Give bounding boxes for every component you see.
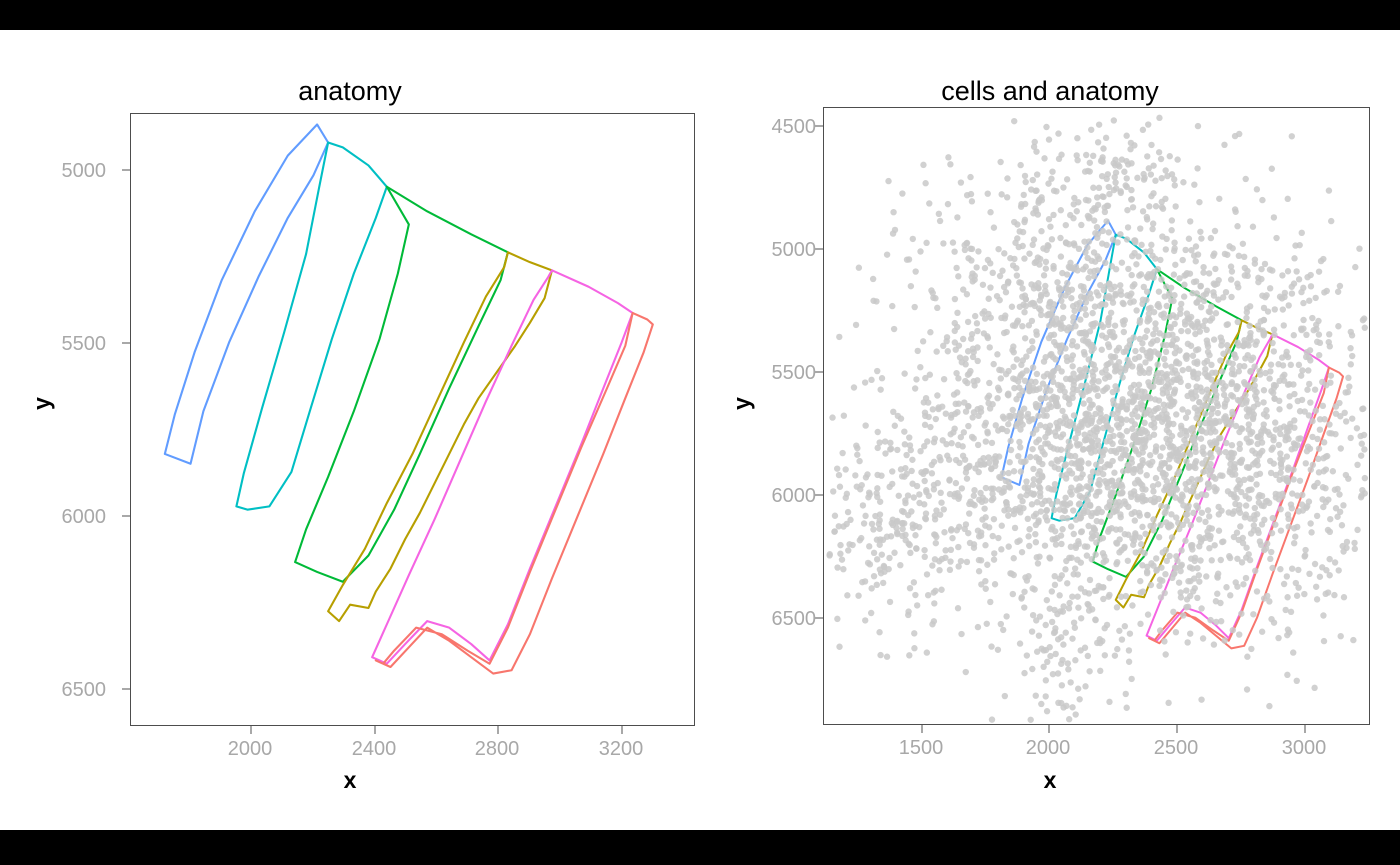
cell-point	[1068, 325, 1074, 331]
cell-point	[936, 211, 942, 217]
cell-point	[1027, 717, 1033, 723]
cell-point	[1109, 441, 1115, 447]
cell-point	[1197, 557, 1203, 563]
cell-point	[1021, 589, 1027, 595]
cell-point	[1285, 268, 1291, 274]
cell-point	[1261, 332, 1267, 338]
cell-point	[1207, 533, 1213, 539]
cell-point	[1340, 548, 1346, 554]
cell-point	[1263, 498, 1269, 504]
cell-point	[1183, 587, 1189, 593]
cell-point	[940, 343, 946, 349]
cell-point	[983, 586, 989, 592]
letterbox-bottom	[0, 830, 1400, 865]
cell-point	[1112, 322, 1118, 328]
cell-point	[1216, 511, 1222, 517]
cell-point	[1001, 415, 1007, 421]
cell-point	[1082, 373, 1088, 379]
cell-point	[1264, 593, 1270, 599]
cell-point	[1049, 588, 1055, 594]
cell-point	[1152, 495, 1158, 501]
cell-point	[1187, 564, 1193, 570]
cell-point	[963, 408, 969, 414]
cell-point	[1205, 390, 1211, 396]
cell-point	[884, 251, 890, 257]
cell-point	[1084, 244, 1090, 250]
cell-point	[1060, 431, 1066, 437]
cell-point	[1070, 338, 1076, 344]
cell-point	[1273, 235, 1279, 241]
cell-point	[1260, 399, 1266, 405]
cell-point	[1071, 619, 1077, 625]
cell-point	[1350, 637, 1356, 643]
cell-point	[1108, 310, 1114, 316]
cell-point	[1295, 436, 1301, 442]
cell-point	[874, 368, 880, 374]
cell-point	[1289, 290, 1295, 296]
cell-point	[937, 457, 943, 463]
cell-point	[871, 550, 877, 556]
cell-point	[1284, 573, 1290, 579]
cell-point	[1343, 418, 1349, 424]
cell-point	[1164, 342, 1170, 348]
cell-point	[1128, 140, 1134, 146]
cell-point	[1176, 579, 1182, 585]
cell-point	[1172, 203, 1178, 209]
cell-point	[1302, 552, 1308, 558]
cell-point	[955, 563, 961, 569]
cell-point	[1080, 266, 1086, 272]
cell-point	[1163, 373, 1169, 379]
cell-point	[1170, 298, 1176, 304]
cell-point	[1311, 327, 1317, 333]
cell-point	[1337, 283, 1343, 289]
cell-point	[1119, 259, 1125, 265]
cell-point	[1230, 361, 1236, 367]
cell-point	[1157, 453, 1163, 459]
cell-point	[1167, 153, 1173, 159]
cell-point	[952, 328, 958, 334]
cell-point	[1003, 478, 1009, 484]
cell-point	[1066, 555, 1072, 561]
cell-point	[1117, 231, 1123, 237]
cell-point	[1228, 276, 1234, 282]
cell-point	[999, 268, 1005, 274]
cell-point	[1034, 171, 1040, 177]
cell-point	[836, 472, 842, 478]
cell-point	[1206, 545, 1212, 551]
cell-point	[950, 239, 956, 245]
cell-point	[1252, 342, 1258, 348]
cell-point	[964, 559, 970, 565]
cell-point	[1148, 582, 1154, 588]
cell-point	[1097, 536, 1103, 542]
cell-point	[1240, 342, 1246, 348]
cell-point	[1217, 600, 1223, 606]
cell-point	[971, 435, 977, 441]
cell-point	[1165, 523, 1171, 529]
cell-point	[1316, 331, 1322, 337]
cell-point	[1027, 454, 1033, 460]
cell-point	[954, 409, 960, 415]
cell-point	[1129, 459, 1135, 465]
cell-point	[940, 240, 946, 246]
cell-point	[1214, 446, 1220, 452]
cell-point	[1033, 148, 1039, 154]
cell-point	[892, 423, 898, 429]
cell-point	[916, 491, 922, 497]
cell-point	[1291, 255, 1297, 261]
cell-point	[945, 201, 951, 207]
cell-point	[932, 516, 938, 522]
cell-point	[829, 414, 835, 420]
cell-point	[1347, 345, 1353, 351]
cell-point	[1040, 407, 1046, 413]
cell-point	[1095, 442, 1101, 448]
cell-point	[1117, 288, 1123, 294]
cell-point	[953, 265, 959, 271]
cell-point	[1078, 559, 1084, 565]
cell-point	[1313, 322, 1319, 328]
cell-point	[1251, 404, 1257, 410]
cell-point	[913, 545, 919, 551]
cell-point	[1200, 264, 1206, 270]
cell-point	[1146, 311, 1152, 317]
cell-point	[1112, 652, 1118, 658]
cell-point	[1029, 300, 1035, 306]
cell-point	[1004, 194, 1010, 200]
cell-point	[1198, 427, 1204, 433]
cell-point	[1151, 424, 1157, 430]
cell-point	[1202, 519, 1208, 525]
cell-point	[1078, 465, 1084, 471]
cell-point	[1211, 641, 1217, 647]
cell-point	[1096, 477, 1102, 483]
cell-point	[1174, 156, 1180, 162]
cell-point	[1187, 218, 1193, 224]
cell-point	[1354, 527, 1360, 533]
cell-point	[1158, 276, 1164, 282]
cell-point	[1253, 396, 1259, 402]
cell-point	[1326, 430, 1332, 436]
cell-point	[1192, 449, 1198, 455]
cell-point	[877, 386, 883, 392]
cell-point	[1286, 393, 1292, 399]
cell-point	[1095, 139, 1101, 145]
cell-point	[1231, 351, 1237, 357]
cell-point	[1161, 401, 1167, 407]
cell-point	[1162, 167, 1168, 173]
cell-point	[1132, 239, 1138, 245]
cell-point	[985, 257, 991, 263]
cell-point	[853, 322, 859, 328]
cell-point	[1212, 370, 1218, 376]
cell-point	[1064, 580, 1070, 586]
cell-point	[1246, 323, 1252, 329]
cell-point	[965, 423, 971, 429]
cell-point	[1128, 272, 1134, 278]
cell-point	[1252, 387, 1258, 393]
cell-point	[1148, 242, 1154, 248]
cell-point	[1341, 594, 1347, 600]
cell-point	[1110, 389, 1116, 395]
cell-point	[1193, 388, 1199, 394]
cell-point	[1014, 356, 1020, 362]
cell-point	[1269, 565, 1275, 571]
cell-point	[1133, 549, 1139, 555]
cell-point	[1251, 376, 1257, 382]
cell-point	[1192, 555, 1198, 561]
cell-point	[967, 498, 973, 504]
cell-point	[1136, 510, 1142, 516]
cell-point	[1197, 328, 1203, 334]
cell-point	[982, 265, 988, 271]
cell-point	[1286, 629, 1292, 635]
cell-point	[1099, 509, 1105, 515]
cell-point	[1322, 591, 1328, 597]
cell-point	[1075, 604, 1081, 610]
cell-point	[1055, 382, 1061, 388]
cell-point	[1086, 590, 1092, 596]
cell-point	[1123, 133, 1129, 139]
cell-point	[1128, 417, 1134, 423]
cell-point	[1157, 627, 1163, 633]
cell-point	[1118, 594, 1124, 600]
cell-point	[1336, 567, 1342, 573]
cell-point	[1117, 502, 1123, 508]
cell-point	[1126, 659, 1132, 665]
cell-point	[1204, 337, 1210, 343]
cell-point	[1068, 356, 1074, 362]
cell-point	[1163, 246, 1169, 252]
cell-point	[1362, 475, 1368, 481]
cell-point	[868, 377, 874, 383]
cell-point	[1191, 279, 1197, 285]
cell-point	[1019, 421, 1025, 427]
cell-point	[976, 557, 982, 563]
cell-point	[1142, 334, 1148, 340]
cell-point	[1103, 438, 1109, 444]
cell-point	[974, 320, 980, 326]
cell-point	[1229, 411, 1235, 417]
cell-point	[1201, 451, 1207, 457]
cell-point	[1009, 304, 1015, 310]
cell-point	[1019, 388, 1025, 394]
cell-point	[1331, 592, 1337, 598]
cell-point	[999, 523, 1005, 529]
cell-point	[1069, 704, 1075, 710]
cell-point	[827, 551, 833, 557]
cell-point	[1202, 410, 1208, 416]
cell-point	[1156, 115, 1162, 121]
cell-point	[862, 578, 868, 584]
cell-point	[1048, 526, 1054, 532]
cell-point	[856, 265, 862, 271]
cell-point	[1228, 294, 1234, 300]
cell-point	[1088, 127, 1094, 133]
cell-point	[1067, 679, 1073, 685]
cell-point	[1022, 173, 1028, 179]
cell-point	[846, 541, 852, 547]
cell-point	[1215, 410, 1221, 416]
cell-point	[1263, 292, 1269, 298]
cell-point	[1206, 352, 1212, 358]
cell-point	[1161, 638, 1167, 644]
cell-point	[1007, 438, 1013, 444]
cell-point	[1074, 208, 1080, 214]
cell-point	[1044, 517, 1050, 523]
cell-point	[1239, 559, 1245, 565]
cell-point	[1176, 468, 1182, 474]
cell-point	[1266, 598, 1272, 604]
cell-point	[1262, 370, 1268, 376]
anatomy-bands	[165, 124, 653, 673]
cell-point	[1339, 522, 1345, 528]
cell-point	[1030, 242, 1036, 248]
cell-point	[1082, 494, 1088, 500]
cell-point	[1358, 452, 1364, 458]
cell-point	[1244, 268, 1250, 274]
cell-point	[851, 384, 857, 390]
cell-point	[1050, 306, 1056, 312]
cell-point	[1179, 562, 1185, 568]
cell-point	[1032, 531, 1038, 537]
cell-point	[1281, 581, 1287, 587]
cell-point	[1244, 686, 1250, 692]
cell-point	[1330, 468, 1336, 474]
cell-point	[1017, 162, 1023, 168]
cell-point	[1211, 484, 1217, 490]
cell-point	[970, 278, 976, 284]
panel-anatomy: anatomy y 5000 5500 6000 6500 2000 2400 …	[0, 30, 700, 830]
cell-point	[1247, 330, 1253, 336]
cell-point	[1198, 696, 1204, 702]
cell-point	[1050, 394, 1056, 400]
cell-point	[921, 501, 927, 507]
cell-point	[975, 527, 981, 533]
cell-point	[1075, 538, 1081, 544]
cell-point	[874, 494, 880, 500]
cell-point	[1030, 364, 1036, 370]
cell-point	[1181, 282, 1187, 288]
cell-point	[1175, 450, 1181, 456]
cell-point	[991, 550, 997, 556]
cell-point	[1235, 477, 1241, 483]
cell-point	[1166, 293, 1172, 299]
cell-point	[1171, 570, 1177, 576]
cell-point	[1090, 402, 1096, 408]
cell-point	[1046, 322, 1052, 328]
cell-point	[927, 329, 933, 335]
cell-point	[1213, 395, 1219, 401]
cell-point	[1243, 502, 1249, 508]
cell-point	[1128, 676, 1134, 682]
cell-point	[1161, 314, 1167, 320]
cell-point	[1261, 517, 1267, 523]
cell-point	[956, 524, 962, 530]
cell-point	[1111, 470, 1117, 476]
cell-point	[1196, 578, 1202, 584]
cell-point	[1111, 117, 1117, 123]
cell-point	[1033, 439, 1039, 445]
cell-point	[1126, 647, 1132, 653]
cell-point	[926, 493, 932, 499]
cell-point	[1166, 421, 1172, 427]
cell-point	[1130, 542, 1136, 548]
cell-point	[1213, 310, 1219, 316]
cell-point	[1321, 638, 1327, 644]
cell-point	[1011, 349, 1017, 355]
cell-point	[1150, 338, 1156, 344]
cell-point	[1168, 379, 1174, 385]
cell-point	[1196, 199, 1202, 205]
cell-point	[1272, 306, 1278, 312]
cell-point	[1112, 179, 1118, 185]
cell-point	[1048, 404, 1054, 410]
cell-point	[1045, 440, 1051, 446]
cell-point	[1147, 305, 1153, 311]
cell-point	[1144, 273, 1150, 279]
cell-point	[926, 200, 932, 206]
cell-point	[1076, 696, 1082, 702]
cell-point	[1113, 482, 1119, 488]
cell-point	[1190, 353, 1196, 359]
cell-point	[1282, 607, 1288, 613]
cell-point	[1179, 406, 1185, 412]
cell-point	[845, 509, 851, 515]
cell-point	[1003, 371, 1009, 377]
cell-point	[1129, 602, 1135, 608]
cell-point	[958, 179, 964, 185]
cell-point	[931, 459, 937, 465]
cell-point	[1184, 639, 1190, 645]
cell-point	[1280, 362, 1286, 368]
cell-point	[922, 515, 928, 521]
cell-point	[1052, 573, 1058, 579]
cell-point	[1001, 330, 1007, 336]
cell-point	[1051, 339, 1057, 345]
cell-point	[1268, 616, 1274, 622]
cell-point	[904, 257, 910, 263]
cell-point	[1270, 445, 1276, 451]
cell-point	[1309, 434, 1315, 440]
cell-point	[1052, 321, 1058, 327]
cell-point	[1252, 568, 1258, 574]
cell-point	[1316, 352, 1322, 358]
cell-point	[1307, 272, 1313, 278]
cell-point	[975, 442, 981, 448]
cell-point	[1103, 242, 1109, 248]
cell-point	[1123, 447, 1129, 453]
cell-point	[1199, 510, 1205, 516]
cell-point	[1032, 139, 1038, 145]
cell-point	[921, 547, 927, 553]
cell-point	[984, 562, 990, 568]
cell-point	[1133, 439, 1139, 445]
cell-point	[963, 669, 969, 675]
cell-point	[907, 442, 913, 448]
cell-point	[1198, 304, 1204, 310]
cell-point	[1148, 171, 1154, 177]
cell-point	[1130, 394, 1136, 400]
cell-point	[1223, 440, 1229, 446]
cell-point	[1092, 206, 1098, 212]
cell-point	[1098, 458, 1104, 464]
cell-point	[1141, 175, 1147, 181]
cell-point	[1305, 367, 1311, 373]
cell-point	[1017, 444, 1023, 450]
cell-point	[1102, 652, 1108, 658]
